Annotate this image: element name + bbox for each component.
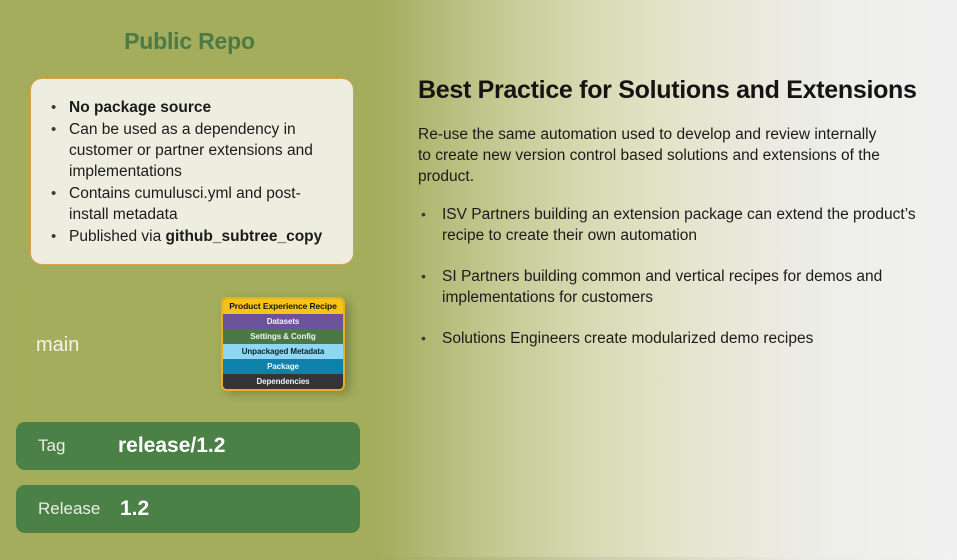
branch-label-main: main	[36, 334, 79, 357]
slide-canvas: Public Repo • No package source • Can be…	[0, 0, 957, 560]
recipe-row-dependencies: Dependencies	[223, 374, 343, 389]
list-item: • Contains cumulusci.yml and post-instal…	[45, 183, 337, 225]
tag-bar-value: release/1.2	[118, 434, 225, 458]
best-practice-bullet-list: • ISV Partners building an extension pac…	[418, 204, 928, 369]
list-item-label: Contains cumulusci.yml and post-install …	[69, 185, 301, 223]
list-item-label: ISV Partners building an extension packa…	[442, 206, 916, 244]
branch-line	[17, 292, 18, 406]
bullet-dot-icon: •	[51, 183, 56, 204]
recipe-header: Product Experience Recipe	[223, 299, 343, 314]
product-experience-recipe-card: Product Experience Recipe Datasets Setti…	[221, 297, 345, 391]
list-item-label: Can be used as a dependency in customer …	[69, 121, 313, 180]
bullet-dot-icon: •	[51, 97, 56, 118]
bullet-dot-icon: •	[421, 266, 426, 287]
list-item-label: No package source	[69, 99, 211, 116]
list-item-label: SI Partners building common and vertical…	[442, 268, 882, 306]
list-item-label-lead: Published via	[69, 228, 166, 245]
recipe-row-package: Package	[223, 359, 343, 374]
tag-bar-key: Tag	[38, 436, 118, 456]
public-repo-bullet-list: • No package source • Can be used as a d…	[45, 97, 337, 247]
recipe-row-unpackaged-metadata: Unpackaged Metadata	[223, 344, 343, 359]
bullet-dot-icon: •	[51, 226, 56, 247]
tag-bar: Tag release/1.2	[16, 422, 360, 470]
best-practice-intro: Re-use the same automation used to devel…	[418, 124, 888, 187]
bullet-dot-icon: •	[51, 119, 56, 140]
list-item-label-emphasis: github_subtree_copy	[166, 228, 323, 245]
bullet-dot-icon: •	[421, 328, 426, 349]
list-item: • Can be used as a dependency in custome…	[45, 119, 337, 182]
public-repo-title: Public Repo	[0, 28, 379, 55]
list-item: • Published via github_subtree_copy	[45, 226, 337, 247]
release-bar-key: Release	[38, 499, 120, 519]
public-repo-card: • No package source • Can be used as a d…	[30, 78, 354, 265]
release-bar-value: 1.2	[120, 497, 149, 521]
list-item: • SI Partners building common and vertic…	[418, 266, 928, 308]
list-item-label: Solutions Engineers create modularized d…	[442, 330, 813, 347]
recipe-row-settings-and-config: Settings & Config	[223, 329, 343, 344]
list-item: • Solutions Engineers create modularized…	[418, 328, 928, 349]
list-item: • No package source	[45, 97, 337, 118]
bullet-dot-icon: •	[421, 204, 426, 225]
release-bar: Release 1.2	[16, 485, 360, 533]
best-practice-title: Best Practice for Solutions and Extensio…	[418, 76, 938, 105]
recipe-row-datasets: Datasets	[223, 314, 343, 329]
list-item: • ISV Partners building an extension pac…	[418, 204, 928, 246]
